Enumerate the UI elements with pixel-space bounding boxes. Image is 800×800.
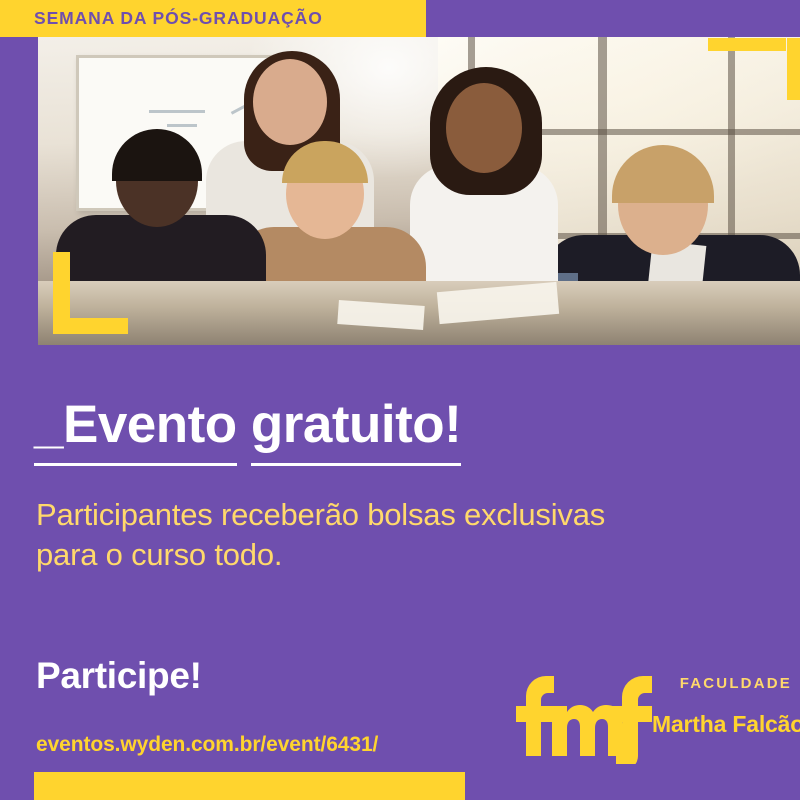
window-mullion: [728, 37, 735, 252]
bottom-accent-bar: [34, 772, 465, 800]
hero-photo: [38, 37, 800, 345]
brand-logo: FACULDADE Martha Falcão: [512, 668, 784, 768]
whiteboard-mark: [149, 110, 205, 113]
brand-kicker: FACULDADE: [652, 676, 792, 691]
brand-logo-text: FACULDADE Martha Falcão: [652, 676, 792, 736]
poster-canvas: SEMANA DA PÓS-GRADUAÇÃO: [0, 0, 800, 800]
person-head: [446, 83, 522, 173]
subheadline: Participantes receberão bolsas exclusiva…: [36, 495, 766, 576]
whiteboard-mark: [167, 124, 197, 127]
ribbon-label: SEMANA DA PÓS-GRADUAÇÃO: [34, 8, 323, 29]
headline-part-1: _Evento: [34, 395, 237, 466]
event-ribbon: SEMANA DA PÓS-GRADUAÇÃO: [0, 0, 426, 37]
brand-name: Martha Falcão: [652, 713, 792, 736]
headline: _Evento gratuito!: [34, 398, 461, 451]
corner-bracket-top-right-horizontal: [708, 38, 786, 51]
photo-background: [38, 37, 800, 345]
person-head: [253, 59, 327, 145]
cta-heading: Participe!: [36, 655, 202, 697]
subheadline-line-1: Participantes receberão bolsas exclusiva…: [36, 495, 766, 535]
event-url[interactable]: eventos.wyden.com.br/event/6431/: [36, 733, 378, 757]
subheadline-line-2: para o curso todo.: [36, 535, 766, 575]
corner-bracket-top-right-vertical: [787, 38, 800, 100]
headline-part-2: gratuito!: [251, 395, 461, 466]
corner-bracket-left-horizontal: [53, 318, 128, 334]
fmf-logomark-icon: [512, 672, 662, 764]
